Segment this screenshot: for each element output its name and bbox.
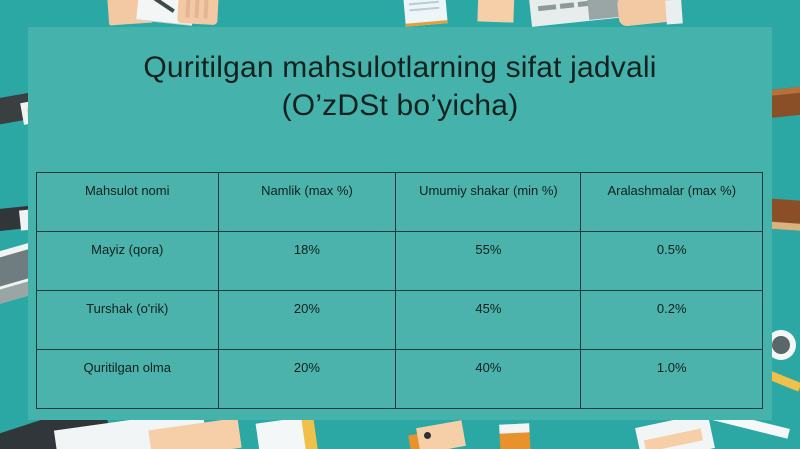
cell-sugar: 45%	[396, 291, 581, 350]
marker-cap-shape	[499, 423, 529, 434]
cell-moisture: 18%	[218, 232, 396, 291]
table-header: Mahsulot nomi Namlik (max %) Umumiy shak…	[37, 173, 763, 232]
pen-icon	[151, 0, 175, 13]
notebook-icon	[256, 417, 313, 449]
newspaper-icon	[528, 0, 627, 27]
table-row: Turshak (o'rik) 20% 45% 0.2%	[37, 291, 763, 350]
tablet-device-icon	[587, 0, 629, 20]
content-card: Quritilgan mahsulotlarning sifat jadvali…	[28, 27, 772, 420]
notebook-spine-shape	[301, 416, 318, 449]
hand-icon	[617, 0, 676, 27]
table-body: Mayiz (qora) 18% 55% 0.5% Turshak (o'rik…	[37, 232, 763, 409]
column-header-sugar: Umumiy shakar (min %)	[396, 173, 581, 232]
clipboard-hand-shape	[644, 428, 703, 449]
quality-table: Mahsulot nomi Namlik (max %) Umumiy shak…	[36, 172, 763, 409]
slide-canvas: Quritilgan mahsulotlarning sifat jadvali…	[0, 0, 800, 449]
hand-icon	[416, 420, 466, 449]
hand-icon	[107, 0, 153, 25]
cell-product: Mayiz (qora)	[37, 232, 219, 291]
table-row: Quritilgan olma 20% 40% 1.0%	[37, 350, 763, 409]
sleeve-button-shape	[424, 432, 431, 439]
finger-shape	[203, 0, 208, 19]
cell-sugar: 40%	[396, 350, 581, 409]
column-header-moisture: Namlik (max %)	[218, 173, 396, 232]
document-icon	[402, 0, 447, 27]
hand-icon	[148, 418, 241, 449]
quality-table-container: Mahsulot nomi Namlik (max %) Umumiy shak…	[36, 172, 763, 409]
cell-impurities: 0.2%	[581, 291, 763, 350]
page-title: Quritilgan mahsulotlarning sifat jadvali…	[28, 27, 772, 124]
column-header-product: Mahsulot nomi	[37, 173, 219, 232]
marker-icon	[499, 423, 531, 449]
cell-moisture: 20%	[218, 291, 396, 350]
column-header-impurities: Aralashmalar (max %)	[581, 173, 763, 232]
cup-inner-shape	[772, 336, 790, 354]
cell-impurities: 0.5%	[581, 232, 763, 291]
table-header-row: Mahsulot nomi Namlik (max %) Umumiy shak…	[37, 173, 763, 232]
cell-sugar: 55%	[396, 232, 581, 291]
cell-impurities: 1.0%	[581, 350, 763, 409]
page-title-line-1: Quritilgan mahsulotlarning sifat jadvali	[72, 49, 728, 87]
orange-sleeve-hand-icon	[408, 429, 452, 449]
cell-product: Quritilgan olma	[37, 350, 219, 409]
paper-sheet-icon	[136, 0, 195, 25]
cell-product: Turshak (o'rik)	[37, 291, 219, 350]
note-sheet-icon	[477, 0, 514, 23]
table-row: Mayiz (qora) 18% 55% 0.5%	[37, 232, 763, 291]
cell-moisture: 20%	[218, 350, 396, 409]
finger-shape	[185, 0, 190, 18]
cup-icon	[665, 0, 683, 25]
hand-icon	[177, 0, 219, 25]
finger-shape	[194, 0, 199, 18]
page-title-line-2: (O’zDSt bo’yicha)	[72, 87, 728, 125]
